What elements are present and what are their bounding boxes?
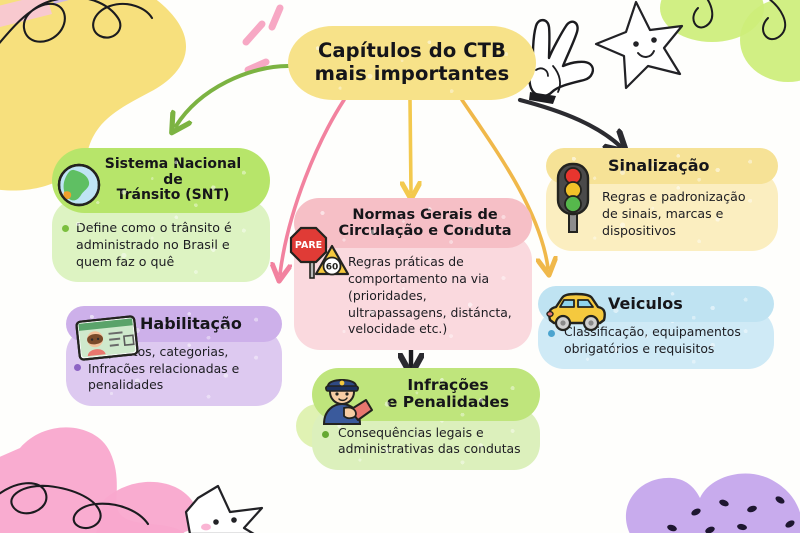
globe-icon [56,162,102,208]
bullet-dot [322,431,329,438]
node-infracoes-title-line2: e Penalidades [374,394,522,411]
connector-central-to-sinalizacao [520,100,620,146]
star-top-right [596,2,682,88]
green-blob-top-right-a [660,0,764,42]
connector-central-to-snt [176,66,288,126]
green-blob-top-right-b [740,0,800,82]
node-veiculos-title-line1: Veiculos [608,295,756,313]
stop-sign-icon: PARE 60 [288,222,356,284]
mindmap-canvas: Capítulos do CTB mais importantes Sistem… [0,0,800,533]
node-sinalizacao-title-line1: Sinalização [608,157,760,175]
police-officer-icon [314,370,376,428]
peace-hand-icon [529,20,593,104]
svg-text:PARE: PARE [295,240,322,251]
node-sinalizacao[interactable]: Sinalização Regras e padronização de sin… [546,148,778,251]
node-infracoes-title-line1: Infrações [374,377,522,394]
pink-blob-bottom-left [0,427,186,533]
node-normas-title-line2: Circulação e Conduta [336,223,514,239]
lilac-bar-top-left [48,0,84,4]
traffic-light-icon [552,160,598,234]
node-snt-title-line1: Sistema Nacional de [94,157,252,188]
node-veiculos[interactable]: Veiculos Classificação, equipamentos obr… [538,286,774,369]
node-sistema-nacional-de-transito[interactable]: Sistema Nacional de Tránsito (SNT) Defin… [52,148,270,282]
black-squiggle-top-left [0,0,152,52]
bullet-dot [62,225,69,232]
connector-central-to-normas [410,100,411,192]
bullet-dot [74,364,81,371]
node-snt-body-text: Define como o trânsito é administrado no… [76,220,232,269]
svg-text:60: 60 [326,263,339,273]
pink-bar-top-left [0,0,52,28]
central-title-line1: Capítulos do CTB [288,39,536,62]
central-node[interactable]: Capítulos do CTB mais importantes [288,26,536,100]
node-infracoes-body-text: Consequências legais e administrativas d… [338,425,521,457]
node-normas-gerais[interactable]: Normas Gerais de Circulação e Conduta Re… [294,198,532,350]
central-node-title: Capítulos do CTB mais importantes [288,26,536,86]
car-icon [544,290,608,334]
pink-blob-bottom-left-b [96,482,198,533]
purple-blob-bottom-right [626,474,800,533]
node-normas-body-text: Regras práticas de comportamento na via … [348,254,512,336]
node-habilitacao-title-line1: Habilitação [140,315,264,333]
node-sinalizacao-body-text: Regras e padronização de sinais, marcas … [602,189,746,238]
central-title-line2: mais importantes [288,62,536,85]
node-habilitacao[interactable]: Habilitação Requisitos, categorias, Infr… [66,306,282,406]
pink-sparkle-rays [246,8,280,70]
black-squiggle-bottom [0,483,148,528]
node-normas-title-line1: Normas Gerais de [336,207,514,223]
node-snt-title-line2: Tránsito (SNT) [94,188,252,204]
node-infracoes-penalidades[interactable]: Infrações e Penalidades Consequências le… [312,368,540,470]
purple-blob-speckles [666,495,796,533]
id-card-icon [74,314,140,362]
black-squiggle-top-right [693,0,785,39]
star-bottom-left [186,486,262,533]
